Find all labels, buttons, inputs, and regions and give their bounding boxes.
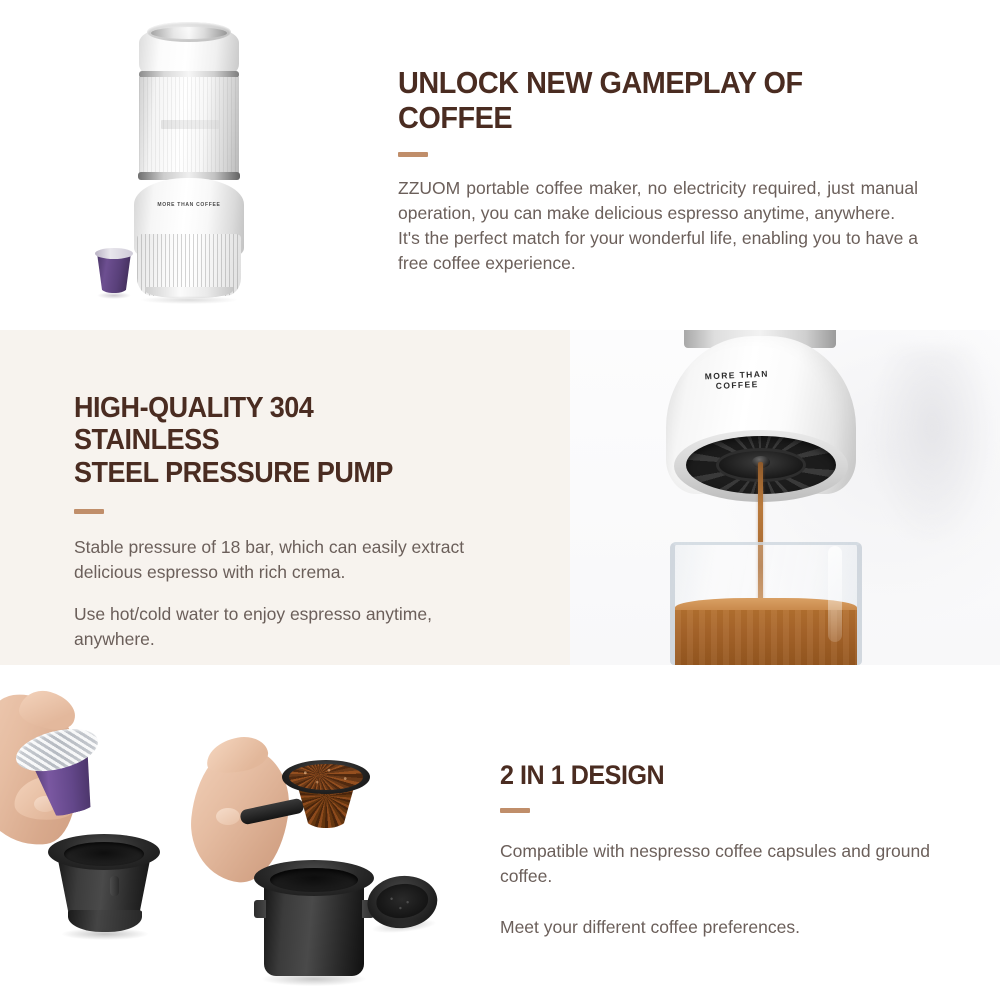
portable-coffee-maker-product-photo: MORE THAN COFFEE <box>85 8 295 308</box>
background-bokeh <box>872 348 992 548</box>
section-3-copy-block: 2 IN 1 DESIGN Compatible with nespresso … <box>500 760 930 940</box>
section-3-paragraph-1: Compatible with nespresso coffee capsule… <box>500 839 930 889</box>
capsule-foil-lid <box>95 248 133 259</box>
capsule-and-holder-photo <box>0 690 200 980</box>
section-3-paragraph-2: Meet your different coffee preferences. <box>500 915 930 940</box>
capsule-holder <box>46 834 164 950</box>
capsule-drop-shadow <box>97 292 131 299</box>
filter-basket <box>254 860 378 990</box>
brewing-illustration: MORE THAN COFFEE <box>570 330 1000 665</box>
section-1-heading: UNLOCK NEW GAMEPLAY OF COFFEE <box>398 66 882 135</box>
scoop-basket-illustration <box>196 690 426 980</box>
coffee-maker-illustration: MORE THAN COFFEE <box>85 8 295 308</box>
nespresso-capsule-purple <box>93 248 135 298</box>
section-2-copy-block: HIGH-QUALITY 304 STAINLESS STEEL PRESSUR… <box>74 392 494 652</box>
ground-coffee-scoop-and-basket-photo <box>196 690 426 980</box>
glass-highlight <box>828 546 842 642</box>
thumb-nail <box>216 808 240 825</box>
section-1-copy-block: UNLOCK NEW GAMEPLAY OF COFFEE ZZUOM port… <box>398 66 918 276</box>
capsule-body <box>97 253 131 293</box>
section-unlock-new-gameplay: MORE THAN COFFEE UNLOCK NEW GAMEPLAY OF … <box>0 0 1000 330</box>
basket-opening <box>270 868 358 892</box>
holder-opening <box>64 842 144 866</box>
accent-dash-2 <box>74 509 104 514</box>
section-stainless-steel-pressure-pump: HIGH-QUALITY 304 STAINLESS STEEL PRESSUR… <box>0 330 1000 665</box>
section-2-left-panel: HIGH-QUALITY 304 STAINLESS STEEL PRESSUR… <box>0 330 570 665</box>
product-drop-shadow <box>141 296 237 304</box>
device-label-more-than-coffee: MORE THAN COFFEE <box>694 368 781 392</box>
espresso-pouring-into-glass-photo: MORE THAN COFFEE <box>570 330 1000 665</box>
device-label-more-than-coffee: MORE THAN COFFEE <box>156 202 222 208</box>
coffee-scoop <box>282 760 370 838</box>
coffee-maker-cap-rim <box>151 27 227 39</box>
section-2-paragraph-1: Stable pressure of 18 bar, which can eas… <box>74 535 494 585</box>
accent-dash-1 <box>398 152 428 157</box>
section-2-paragraph-2: Use hot/cold water to enjoy espresso any… <box>74 602 494 652</box>
holder-tab <box>110 876 119 896</box>
section-1-paragraph-2: It's the perfect match for your wonderfu… <box>398 226 918 276</box>
basket-body <box>264 884 364 976</box>
coffee-maker-brand-mark <box>161 120 219 129</box>
filter-basket-lid <box>365 873 441 944</box>
section-2-heading-line-1: HIGH-QUALITY 304 STAINLESS <box>74 392 313 456</box>
product-infographic: MORE THAN COFFEE UNLOCK NEW GAMEPLAY OF … <box>0 0 1000 1000</box>
capsule-holder-illustration <box>0 690 200 980</box>
basket-tab-left <box>254 900 266 918</box>
accent-dash-3 <box>500 808 530 813</box>
section-2-heading-line-2: STEEL PRESSURE PUMP <box>74 457 393 489</box>
ground-coffee-surface <box>289 764 363 790</box>
section-2-heading: HIGH-QUALITY 304 STAINLESS STEEL PRESSUR… <box>74 392 465 489</box>
holder-drop-shadow <box>62 928 148 940</box>
section-3-heading: 2 IN 1 DESIGN <box>500 760 900 790</box>
section-1-paragraph-1: ZZUOM portable coffee maker, no electric… <box>398 176 918 226</box>
basket-drop-shadow <box>262 972 366 986</box>
section-two-in-one-design: 2 IN 1 DESIGN Compatible with nespresso … <box>0 665 1000 1000</box>
